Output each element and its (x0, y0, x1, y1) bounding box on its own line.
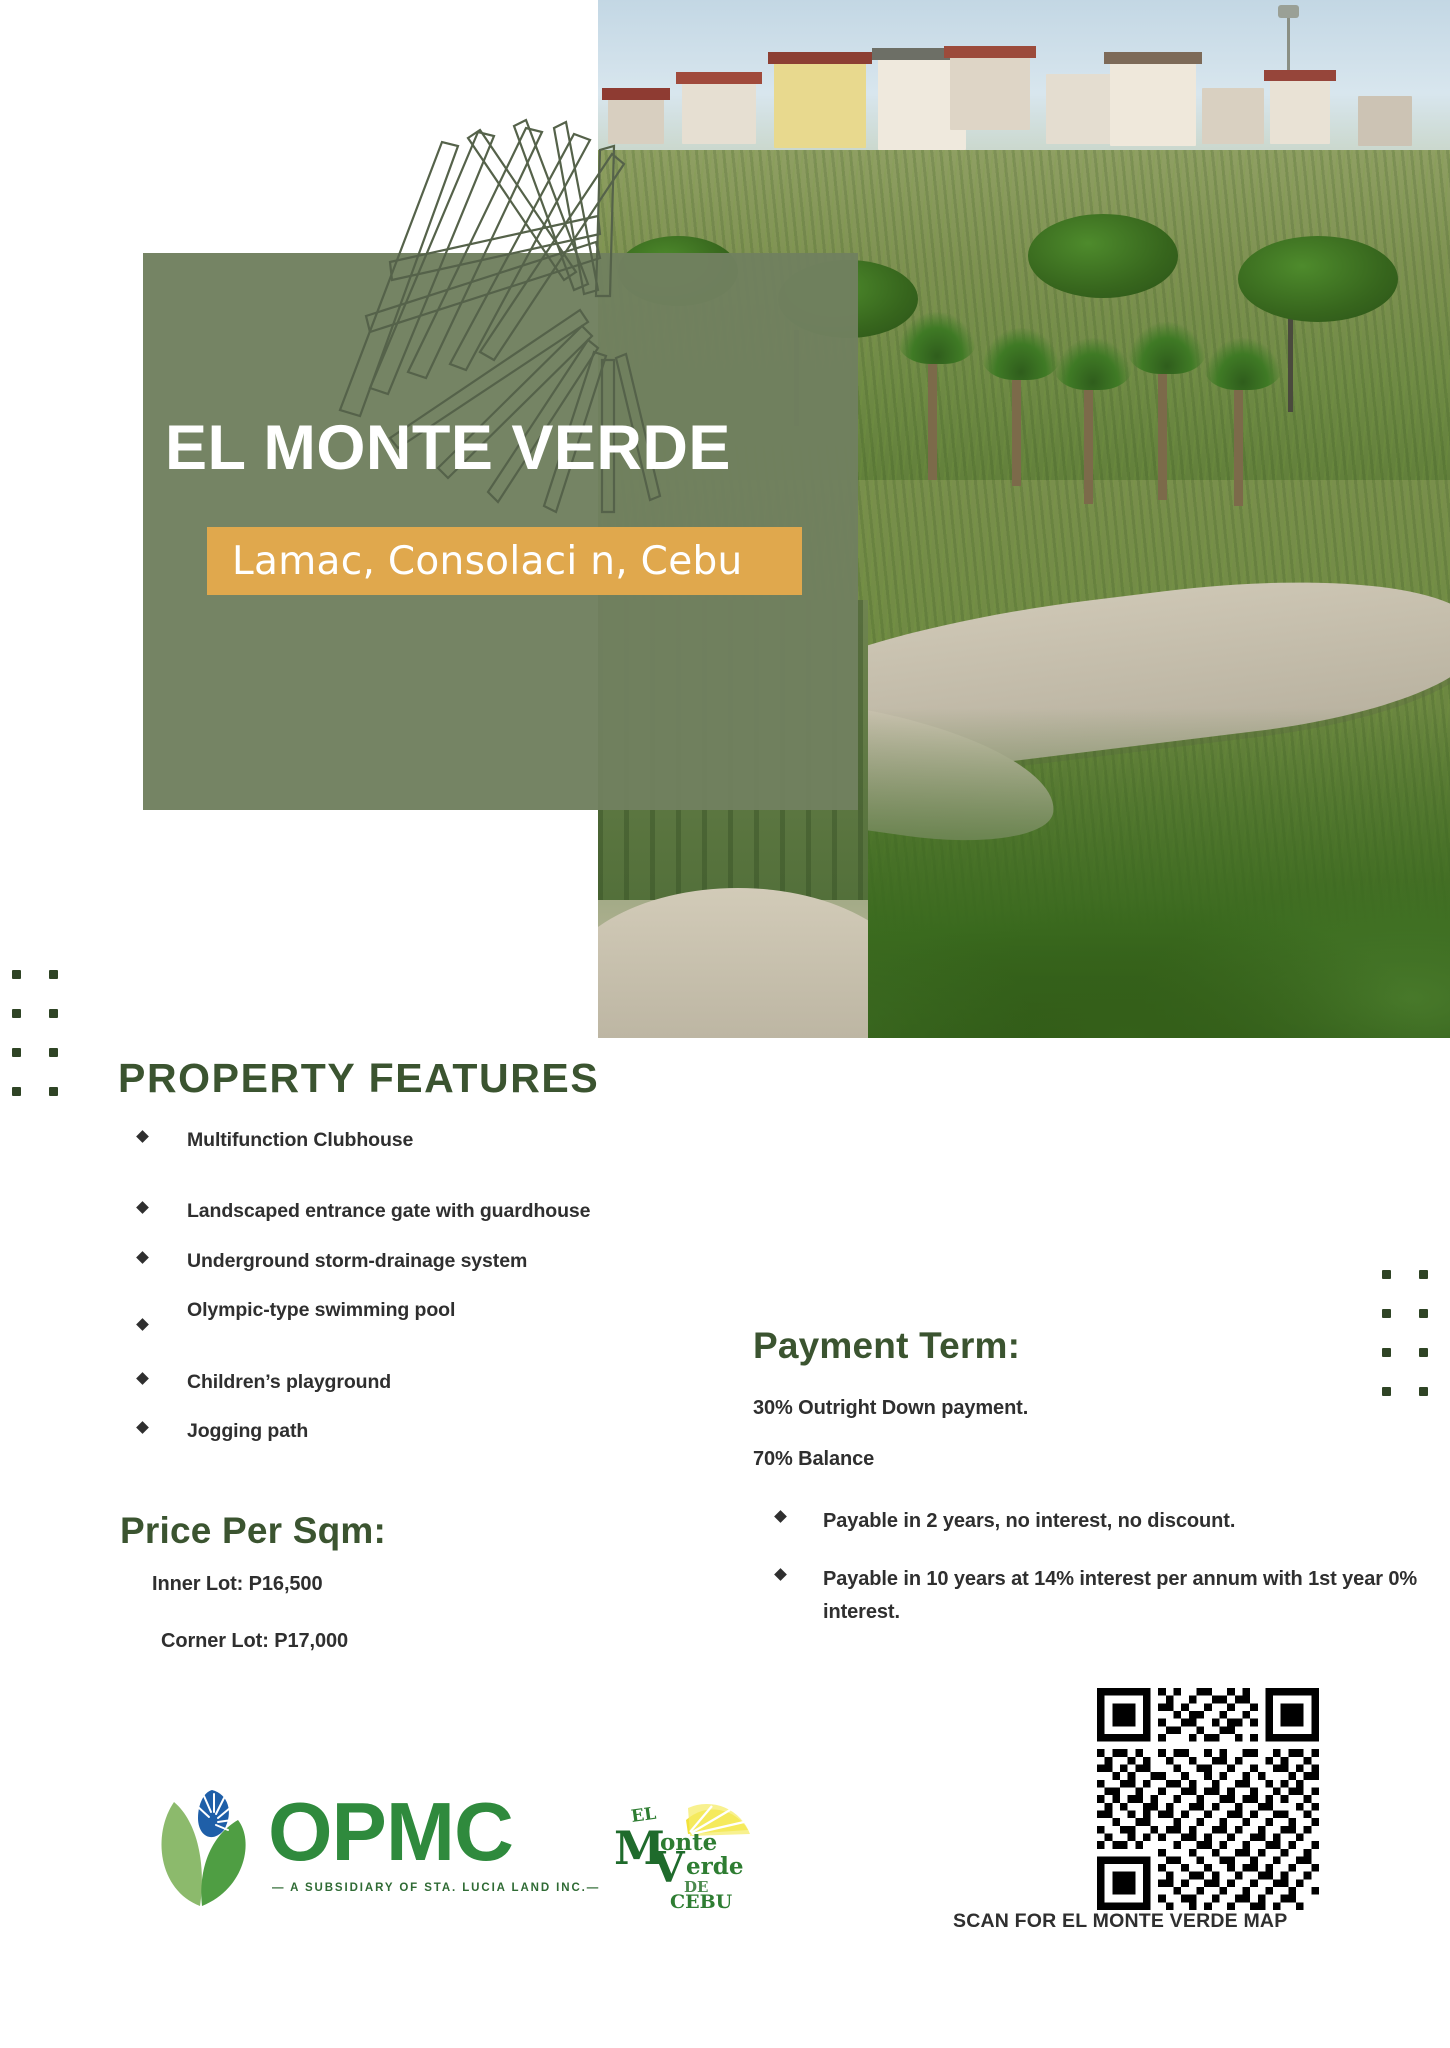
payment-options-list: Payable in 2 years, no interest, no disc… (768, 1505, 1428, 1654)
property-features-list: Multifunction Clubhouse Landscaped entra… (130, 1128, 610, 1468)
price-heading: Price Per Sqm: (120, 1510, 386, 1552)
payment-option-label: Payable in 2 years, no interest, no disc… (823, 1510, 1235, 1532)
location-text: Lamac, Consolaci n, Cebu (232, 539, 743, 584)
payment-balance: 70% Balance (753, 1448, 1413, 1471)
payment-term-heading: Payment Term: (753, 1325, 1020, 1367)
payment-option: Payable in 10 years at 14% interest per … (768, 1563, 1428, 1629)
diamond-bullet-icon (136, 1202, 149, 1215)
feature-label: Jogging path (187, 1420, 308, 1442)
diamond-bullet-icon (136, 1421, 149, 1434)
photo-palm-crown (1128, 322, 1206, 374)
photo-inset-road (598, 888, 868, 1038)
photo-palm-crown (1204, 338, 1282, 390)
photo-shrub (1238, 236, 1398, 322)
diamond-bullet-icon (136, 1372, 149, 1385)
feature-label: Landscaped entrance gate with guardhouse (187, 1200, 590, 1222)
diamond-bullet-icon (774, 1510, 787, 1523)
location-banner: Lamac, Consolaci n, Cebu (207, 527, 802, 595)
photo-shrub (1028, 214, 1178, 298)
feature-item: Olympic-type swimming pool (130, 1298, 610, 1322)
payment-summary: 30% Outright Down payment. 70% Balance (753, 1397, 1413, 1499)
price-inner-lot: Inner Lot: P16,500 (152, 1573, 348, 1596)
opmc-tagline: — A SUBSIDIARY OF STA. LUCIA LAND INC.— (272, 1882, 600, 1894)
feature-item: Multifunction Clubhouse (130, 1128, 610, 1152)
photo-palm-crown (982, 328, 1060, 380)
payment-option: Payable in 2 years, no interest, no disc… (768, 1505, 1428, 1538)
payment-option-label: Payable in 10 years at 14% interest per … (823, 1568, 1417, 1623)
feature-item: Jogging path (130, 1419, 610, 1443)
opmc-logo: OPMC — A SUBSIDIARY OF STA. LUCIA LAND I… (150, 1778, 570, 1918)
price-corner-lot: Corner Lot: P17,000 (161, 1630, 348, 1653)
diamond-bullet-icon (136, 1318, 149, 1331)
diamond-bullet-icon (774, 1568, 787, 1581)
el-monte-verde-logo: EL M onte V erde DE CEBU (608, 1790, 758, 1918)
photo-palm-crown (898, 312, 976, 364)
photo-palm-crown (1054, 338, 1132, 390)
feature-label: Olympic-type swimming pool (187, 1299, 455, 1321)
qr-code[interactable] (1097, 1688, 1319, 1910)
dot-grid-left (12, 970, 59, 1096)
price-values: Inner Lot: P16,500 Corner Lot: P17,000 (152, 1573, 348, 1687)
emv-erde-text: erde (686, 1853, 743, 1880)
payment-downpayment: 30% Outright Down payment. (753, 1397, 1413, 1420)
emv-cebu-text: CEBU (670, 1891, 733, 1913)
qr-code-image[interactable] (1097, 1688, 1319, 1910)
property-features-heading: PROPERTY FEATURES (118, 1055, 599, 1102)
dot-grid-right (1382, 1270, 1429, 1396)
feature-item: Landscaped entrance gate with guardhouse (130, 1199, 610, 1223)
feature-item: Children’s playground (130, 1370, 610, 1394)
emv-v-text: V (651, 1843, 686, 1892)
opmc-leaf-icon (150, 1778, 260, 1908)
diamond-bullet-icon (136, 1130, 149, 1143)
opmc-wordmark: OPMC (268, 1784, 513, 1880)
feature-label: Multifunction Clubhouse (187, 1129, 413, 1151)
feature-label: Children’s playground (187, 1371, 391, 1393)
feature-label: Underground storm-drainage system (187, 1250, 527, 1272)
feature-item: Underground storm-drainage system (130, 1249, 610, 1273)
qr-caption: SCAN FOR EL MONTE VERDE MAP (953, 1910, 1287, 1933)
diamond-bullet-icon (136, 1251, 149, 1264)
page-title: EL MONTE VERDE (165, 412, 731, 484)
